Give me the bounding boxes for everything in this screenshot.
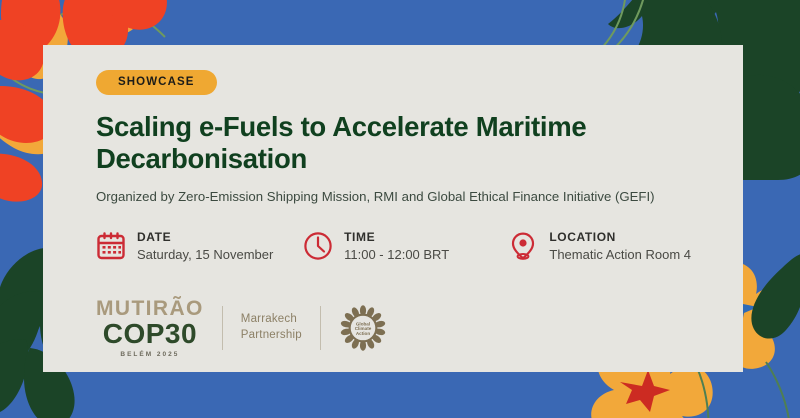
seal-line-3: Action (356, 331, 370, 336)
detail-date: DATE Saturday, 15 November (96, 228, 303, 264)
marrakech-line-1: Marrakech (241, 313, 297, 325)
detail-value-time: 11:00 - 12:00 BRT (344, 247, 449, 262)
global-climate-action-seal-icon: Global Climate Action (339, 304, 387, 352)
organizers-text: Organized by Zero-Emission Shipping Miss… (96, 188, 691, 205)
event-card: SHOWCASE Scaling e-Fuels to Accelerate M… (43, 45, 743, 372)
marrakech-partnership-logo: Marrakech Partnership (241, 312, 302, 343)
cop30-logo-cop30: COP30 (96, 320, 204, 348)
calendar-icon (96, 231, 126, 261)
logo-strip: MUTIRÃO COP30 BELÉM 2025 Marrakech Partn… (96, 298, 387, 359)
clock-icon (303, 231, 333, 261)
leaf-right-edge (748, 250, 800, 340)
cop30-logo-belem: BELÉM 2025 (96, 352, 204, 359)
status-badge: SHOWCASE (96, 70, 217, 95)
cop30-logo-mutirao: MUTIRÃO (96, 298, 204, 319)
cop30-logo: MUTIRÃO COP30 BELÉM 2025 (96, 298, 204, 359)
event-details-row: DATE Saturday, 15 November TIME 11:00 - … (96, 228, 691, 264)
detail-label-location: LOCATION (549, 230, 616, 244)
detail-time: TIME 11:00 - 12:00 BRT (303, 228, 508, 264)
detail-value-location: Thematic Action Room 4 (549, 247, 691, 262)
logo-divider-left (222, 306, 223, 350)
pin-icon (508, 231, 538, 261)
detail-label-time: TIME (344, 230, 375, 244)
marrakech-line-2: Partnership (241, 329, 302, 341)
logo-divider-right (320, 306, 321, 350)
page-title: Scaling e-Fuels to Accelerate Maritime D… (96, 111, 691, 176)
detail-value-date: Saturday, 15 November (137, 247, 273, 262)
detail-label-date: DATE (137, 230, 171, 244)
detail-location: LOCATION Thematic Action Room 4 (508, 228, 691, 264)
